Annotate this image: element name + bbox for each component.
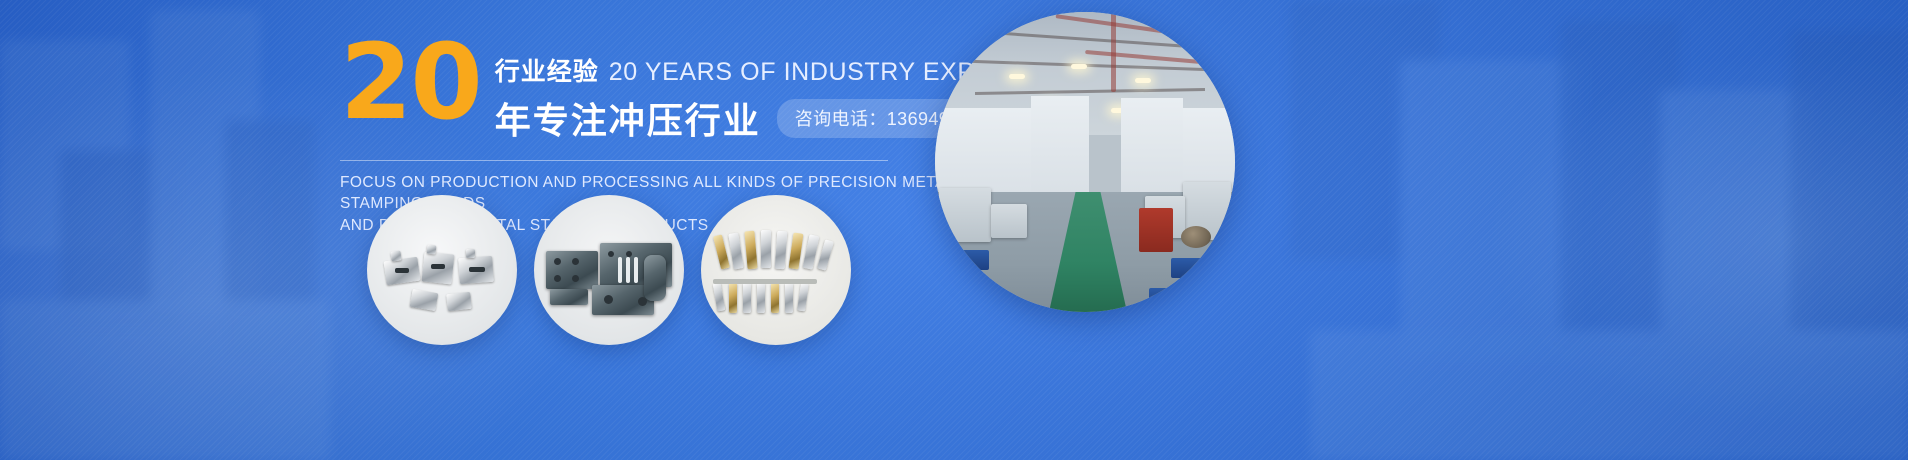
product-circle-terminal-pins — [701, 195, 851, 345]
headline-row: 20 行业经验 20 YEARS OF INDUSTRY EXPERIENCE … — [340, 42, 960, 144]
promo-banner: 20 行业经验 20 YEARS OF INDUSTRY EXPERIENCE … — [0, 0, 1908, 460]
progressive-stamping-die-photo — [534, 195, 684, 345]
cn-headline: 年专注冲压行业 — [495, 92, 761, 144]
copy-divider — [340, 160, 888, 161]
factory-workshop-photo — [935, 12, 1235, 312]
usb-connector-parts-photo — [367, 195, 517, 345]
product-circle-stamping-die — [534, 195, 684, 345]
product-circle-usb-connectors — [367, 195, 517, 345]
years-number: 20 — [340, 38, 481, 127]
cn-experience-label: 行业经验 — [495, 52, 599, 88]
metal-terminal-pins-photo — [701, 195, 851, 345]
